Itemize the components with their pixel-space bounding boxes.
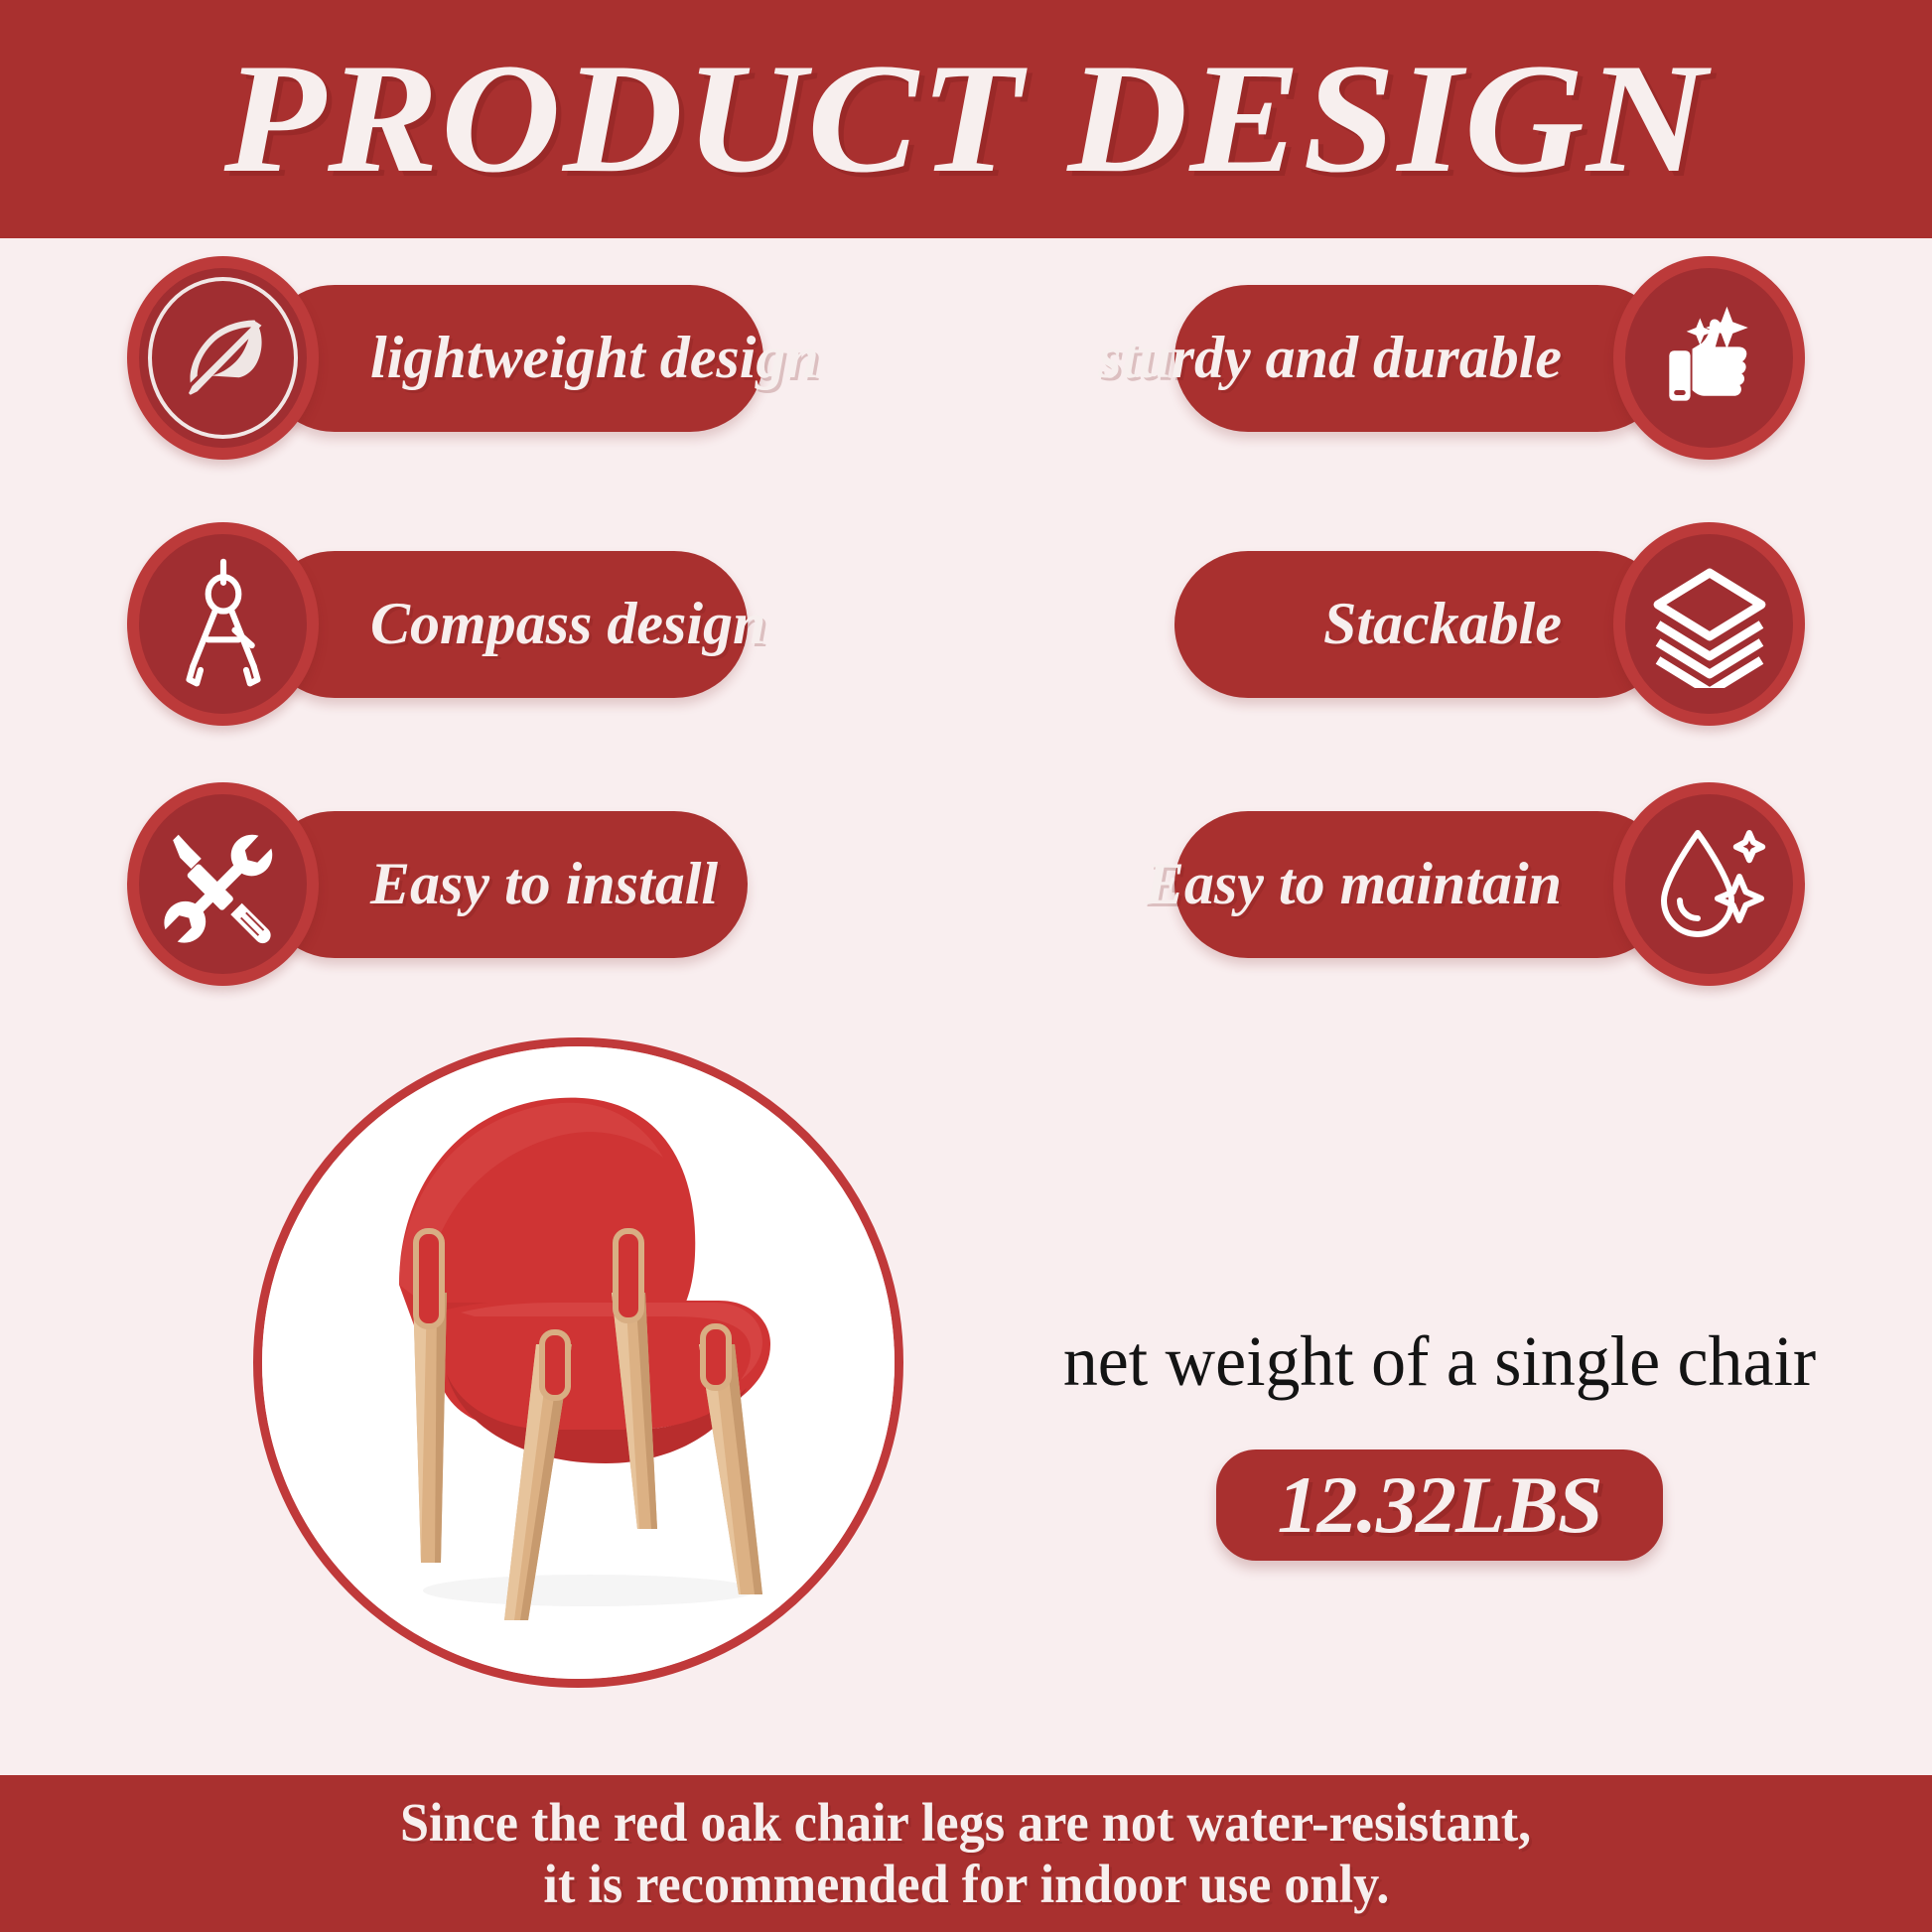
- feature-sturdy-and-durable[interactable]: sturdy and durable: [1174, 256, 1805, 460]
- thumbs-up-icon: [1648, 297, 1771, 420]
- compass-icon-circle: [127, 522, 319, 726]
- footer-line-2: it is recommended for indoor use only.: [543, 1854, 1389, 1915]
- tools-icon-circle: [127, 782, 319, 986]
- header-band: PRODUCT DESIGN: [0, 0, 1932, 238]
- feature-label: sturdy and durable: [1098, 324, 1562, 392]
- weight-caption: net weight of a single chair: [1016, 1320, 1863, 1403]
- feature-pill[interactable]: Easy to maintain: [1174, 811, 1671, 958]
- chair-image: [262, 1046, 895, 1679]
- feature-pill[interactable]: Stackable: [1174, 551, 1671, 698]
- feature-label: lightweight design: [370, 324, 819, 392]
- layers-icon-circle: [1613, 522, 1805, 726]
- product-photo-circle: [253, 1037, 903, 1688]
- feature-label: Easy to maintain: [1145, 850, 1562, 918]
- thumbs-up-icon-circle: [1613, 256, 1805, 460]
- water-drop-sparkle-icon-circle: [1613, 782, 1805, 986]
- layers-icon: [1646, 561, 1773, 688]
- weight-badge: 12.32LBS: [1216, 1449, 1663, 1561]
- compass-icon: [162, 558, 285, 691]
- footer-line-1: Since the red oak chair legs are not wat…: [400, 1792, 1531, 1854]
- net-weight-block: net weight of a single chair 12.32LBS: [1003, 1320, 1876, 1561]
- feature-lightweight-design[interactable]: lightweight design: [127, 256, 763, 460]
- feature-easy-to-maintain[interactable]: Easy to maintain: [1174, 782, 1805, 986]
- tools-icon: [161, 822, 286, 947]
- feature-grid: lightweight design sturdy and durable: [0, 256, 1932, 1040]
- footer-band: Since the red oak chair legs are not wat…: [0, 1775, 1932, 1932]
- feather-icon-circle: [127, 256, 319, 460]
- feature-pill[interactable]: Compass design: [261, 551, 748, 698]
- feature-stackable[interactable]: Stackable: [1174, 522, 1805, 726]
- weight-value: 12.32LBS: [1278, 1458, 1602, 1552]
- feather-icon: [168, 303, 279, 414]
- feature-label: Compass design: [370, 590, 765, 658]
- feature-label: Easy to install: [370, 850, 718, 918]
- feature-pill[interactable]: sturdy and durable: [1174, 285, 1671, 432]
- feature-pill[interactable]: lightweight design: [261, 285, 763, 432]
- page-title: PRODUCT DESIGN: [223, 29, 1708, 209]
- feature-compass-design[interactable]: Compass design: [127, 522, 748, 726]
- water-drop-sparkle-icon: [1646, 821, 1773, 948]
- feature-label: Stackable: [1323, 590, 1562, 658]
- feature-pill[interactable]: Easy to install: [261, 811, 748, 958]
- feature-easy-to-install[interactable]: Easy to install: [127, 782, 748, 986]
